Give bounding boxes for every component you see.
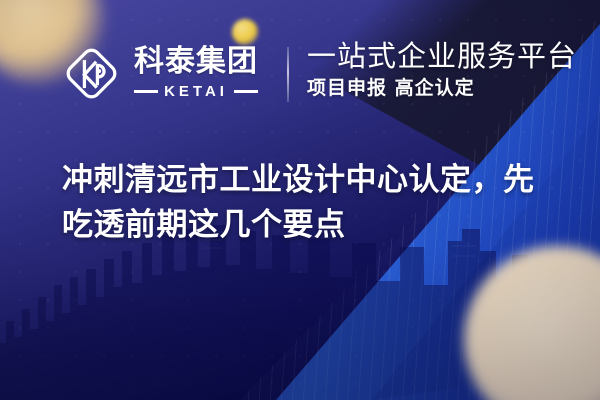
brand-name-en: KETAI xyxy=(164,83,228,100)
headline-text: 冲刺清远市工业设计中心认定，先吃透前期这几个要点 xyxy=(62,158,554,247)
vertical-divider xyxy=(287,47,289,102)
wordmark-rule-right xyxy=(234,90,258,93)
brand-name-cn: 科泰集团 xyxy=(134,47,258,77)
brand-wordmark: 科泰集团 KETAI xyxy=(134,47,258,100)
banner-content: 科泰集团 KETAI 一站式企业服务平台 项目申报 高企认定 冲刺清远市工业设计… xyxy=(0,0,600,400)
promo-banner: 科泰集团 KETAI 一站式企业服务平台 项目申报 高企认定 冲刺清远市工业设计… xyxy=(0,0,600,400)
wordmark-rule-left xyxy=(134,90,158,93)
tagline-secondary: 项目申报 高企认定 xyxy=(307,78,577,99)
tagline-block: 一站式企业服务平台 项目申报 高企认定 xyxy=(307,40,577,99)
brand-name-en-row: KETAI xyxy=(134,83,258,100)
brand-logo-lockup[interactable]: 科泰集团 KETAI xyxy=(62,44,258,103)
ketai-diamond-kt-monogram-icon xyxy=(62,44,121,103)
tagline-primary: 一站式企业服务平台 xyxy=(307,40,577,72)
